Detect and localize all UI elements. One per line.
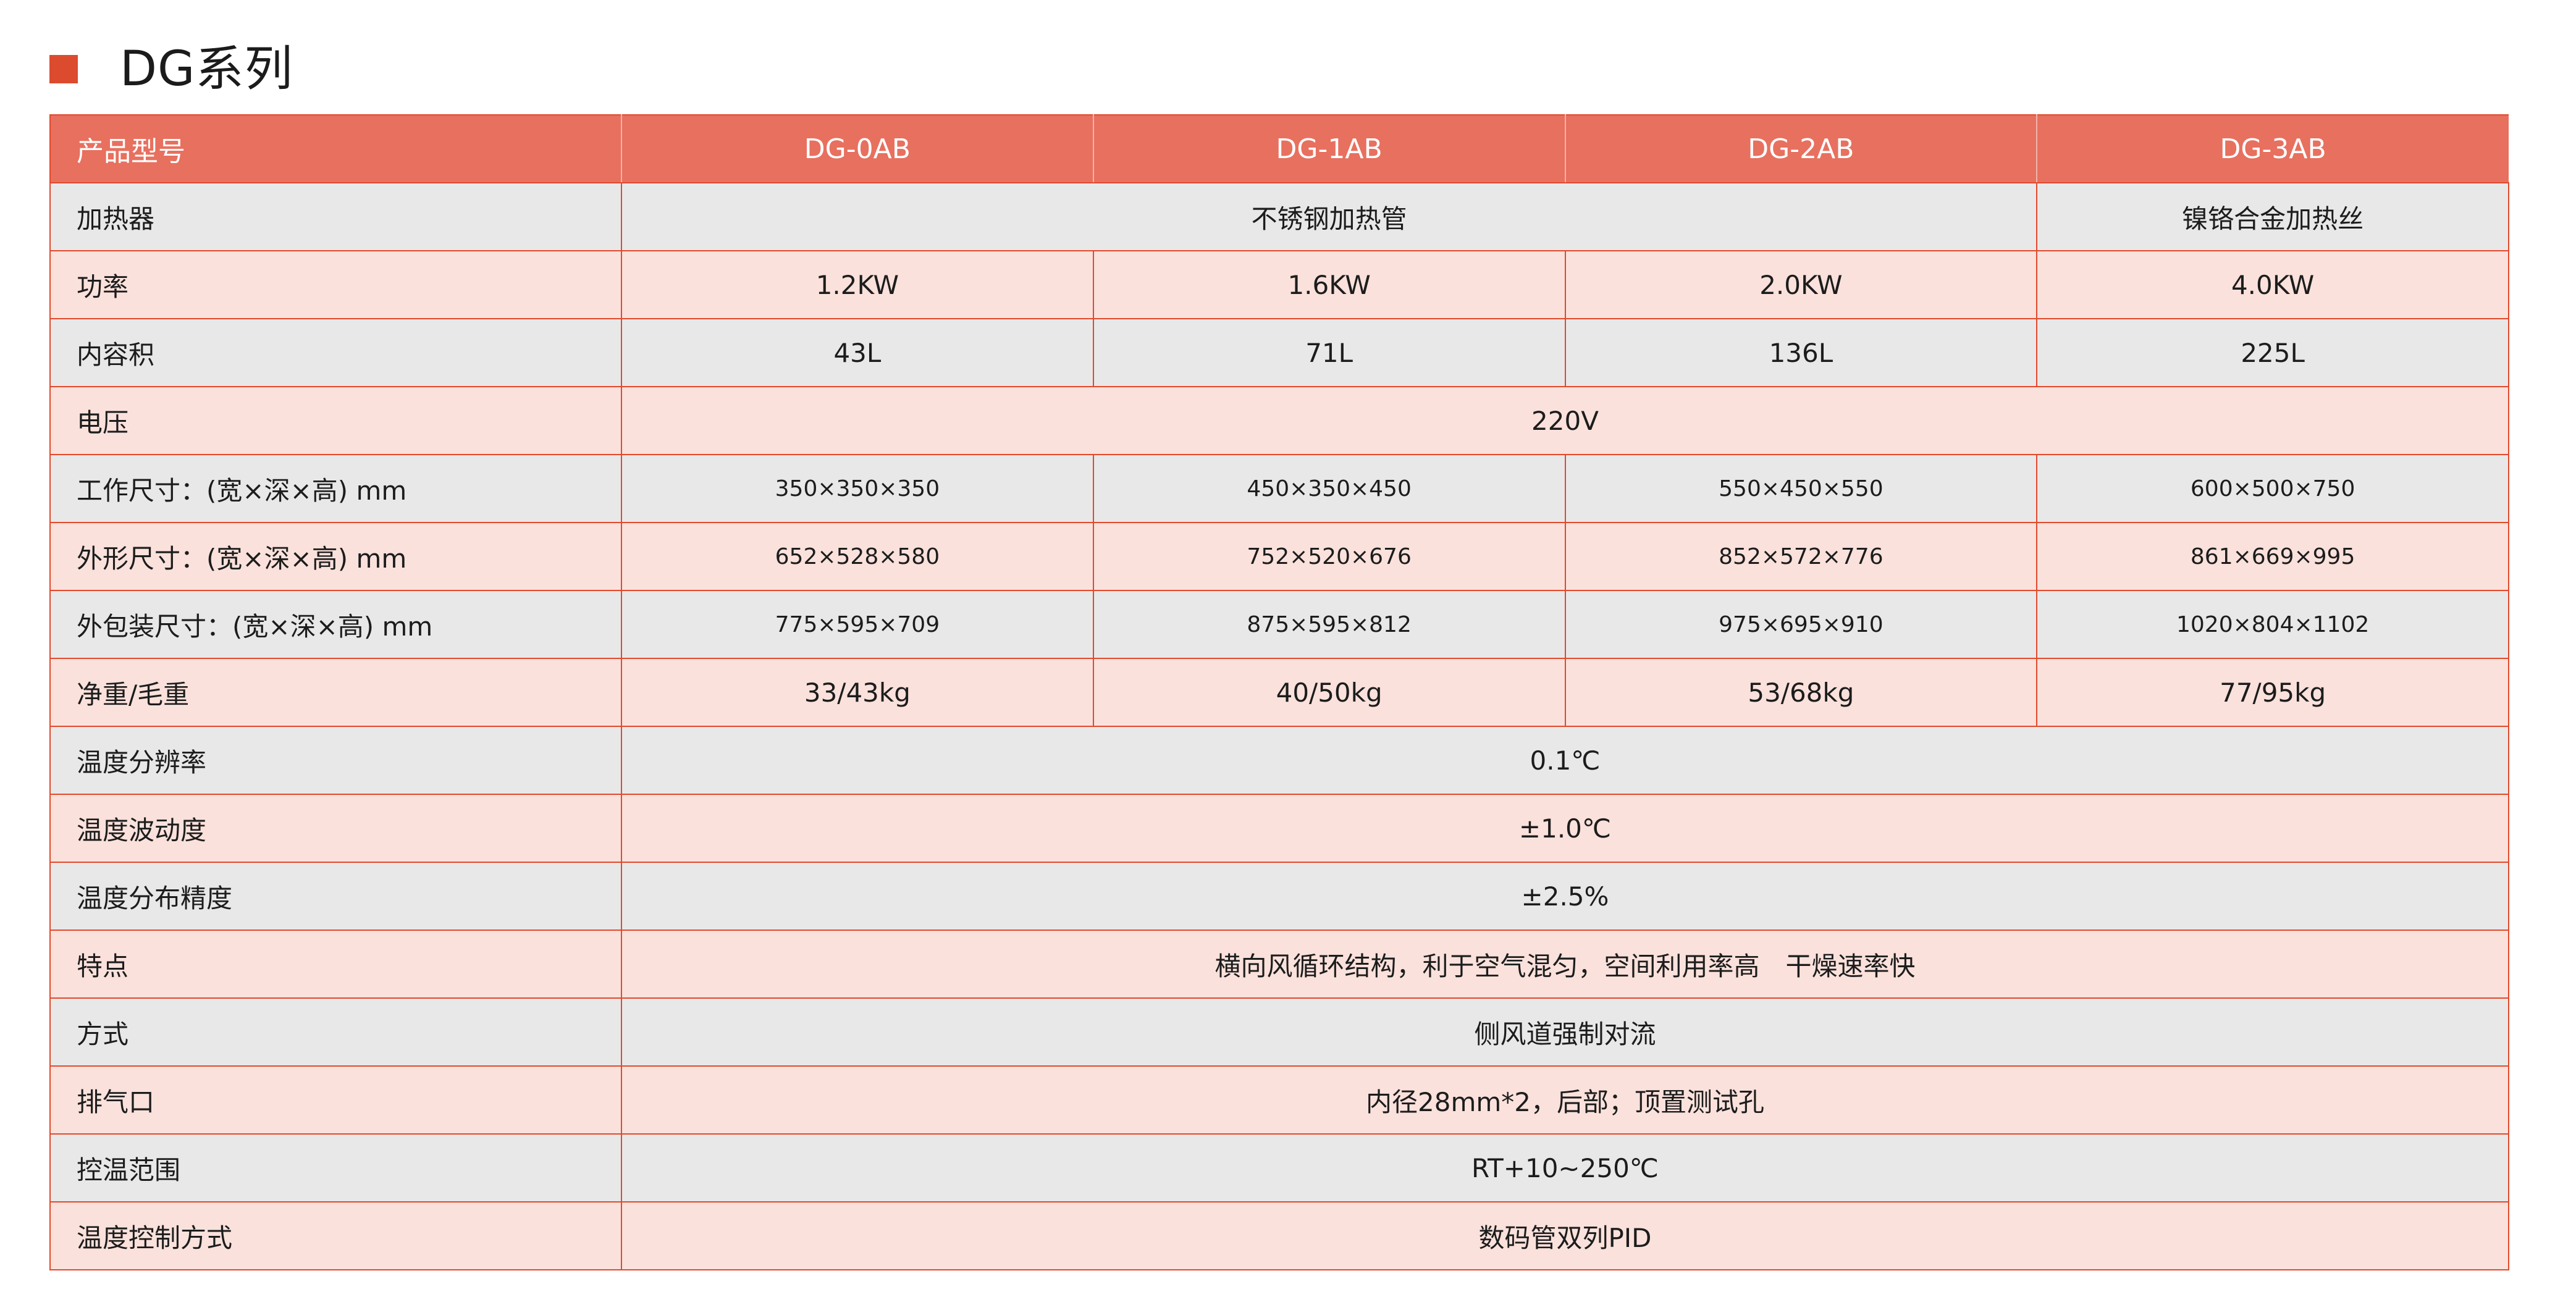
table-row: 电压220V bbox=[50, 387, 2509, 455]
row-value: 550×450×550 bbox=[1565, 455, 2037, 523]
table-row: 方式侧风道强制对流 bbox=[50, 998, 2509, 1066]
row-value: 1.6KW bbox=[1093, 251, 1565, 319]
table-row: 排气口内径28mm*2，后部；顶置测试孔 bbox=[50, 1066, 2509, 1134]
row-value: 镍铬合金加热丝 bbox=[2037, 183, 2509, 251]
row-label: 排气口 bbox=[50, 1066, 621, 1134]
row-label: 控温范围 bbox=[50, 1134, 621, 1202]
row-label: 加热器 bbox=[50, 183, 621, 251]
column-header-dg-1ab: DG-1AB bbox=[1093, 115, 1565, 183]
row-value: ±1.0℃ bbox=[621, 794, 2509, 862]
row-label: 电压 bbox=[50, 387, 621, 455]
column-header-dg-0ab: DG-0AB bbox=[621, 115, 1093, 183]
row-value: 53/68kg bbox=[1565, 658, 2037, 726]
table-row: 外形尺寸：(宽×深×高) mm652×528×580752×520×676852… bbox=[50, 523, 2509, 590]
page-title: DG系列 bbox=[49, 38, 293, 100]
row-value: 71L bbox=[1093, 319, 1565, 387]
table-row: 温度波动度±1.0℃ bbox=[50, 794, 2509, 862]
table-header: 产品型号 DG-0AB DG-1AB DG-2AB DG-3AB bbox=[50, 115, 2509, 183]
table-row: 特点横向风循环结构，利于空气混匀，空间利用率高 干燥速率快 bbox=[50, 930, 2509, 998]
table-row: 加热器不锈钢加热管镍铬合金加热丝 bbox=[50, 183, 2509, 251]
row-value: 1020×804×1102 bbox=[2037, 590, 2509, 658]
table-row: 温度分辨率0.1℃ bbox=[50, 726, 2509, 794]
row-value: 600×500×750 bbox=[2037, 455, 2509, 523]
row-value: 652×528×580 bbox=[621, 523, 1093, 590]
row-value: 225L bbox=[2037, 319, 2509, 387]
row-value: 内径28mm*2，后部；顶置测试孔 bbox=[621, 1066, 2509, 1134]
row-value: 975×695×910 bbox=[1565, 590, 2037, 658]
page-title-text: DG系列 bbox=[120, 45, 293, 93]
row-value: 40/50kg bbox=[1093, 658, 1565, 726]
row-label: 内容积 bbox=[50, 319, 621, 387]
row-value: 数码管双列PID bbox=[621, 1202, 2509, 1270]
row-value: 861×669×995 bbox=[2037, 523, 2509, 590]
row-value: 4.0KW bbox=[2037, 251, 2509, 319]
table-row: 功率1.2KW1.6KW2.0KW4.0KW bbox=[50, 251, 2509, 319]
row-value: RT+10~250℃ bbox=[621, 1134, 2509, 1202]
row-label: 特点 bbox=[50, 930, 621, 998]
column-header-dg-3ab: DG-3AB bbox=[2037, 115, 2509, 183]
row-value: 43L bbox=[621, 319, 1093, 387]
row-value: 横向风循环结构，利于空气混匀，空间利用率高 干燥速率快 bbox=[621, 930, 2509, 998]
row-value: 0.1℃ bbox=[621, 726, 2509, 794]
row-value: 350×350×350 bbox=[621, 455, 1093, 523]
table-body: 加热器不锈钢加热管镍铬合金加热丝功率1.2KW1.6KW2.0KW4.0KW内容… bbox=[50, 183, 2509, 1270]
row-label: 外包装尺寸：(宽×深×高) mm bbox=[50, 590, 621, 658]
table-header-row: 产品型号 DG-0AB DG-1AB DG-2AB DG-3AB bbox=[50, 115, 2509, 183]
row-value: 2.0KW bbox=[1565, 251, 2037, 319]
row-label: 功率 bbox=[50, 251, 621, 319]
column-header-product-model: 产品型号 bbox=[50, 115, 621, 183]
row-label: 温度波动度 bbox=[50, 794, 621, 862]
row-value: 不锈钢加热管 bbox=[621, 183, 2037, 251]
row-label: 外形尺寸：(宽×深×高) mm bbox=[50, 523, 621, 590]
table-row: 温度分布精度±2.5% bbox=[50, 862, 2509, 930]
table-row: 净重/毛重33/43kg40/50kg53/68kg77/95kg bbox=[50, 658, 2509, 726]
bullet-square-icon bbox=[49, 55, 78, 83]
row-value: 752×520×676 bbox=[1093, 523, 1565, 590]
table-row: 内容积43L71L136L225L bbox=[50, 319, 2509, 387]
table-row: 工作尺寸：(宽×深×高) mm350×350×350450×350×450550… bbox=[50, 455, 2509, 523]
row-value: ±2.5% bbox=[621, 862, 2509, 930]
row-value: 450×350×450 bbox=[1093, 455, 1565, 523]
row-label: 温度控制方式 bbox=[50, 1202, 621, 1270]
row-value: 1.2KW bbox=[621, 251, 1093, 319]
slide-page: DG系列 产品型号 DG-0AB DG-1AB DG-2AB DG-3AB 加热… bbox=[0, 0, 2576, 1297]
row-value: 77/95kg bbox=[2037, 658, 2509, 726]
specification-table: 产品型号 DG-0AB DG-1AB DG-2AB DG-3AB 加热器不锈钢加… bbox=[49, 114, 2509, 1270]
row-value: 侧风道强制对流 bbox=[621, 998, 2509, 1066]
row-value: 875×595×812 bbox=[1093, 590, 1565, 658]
table-row: 控温范围RT+10~250℃ bbox=[50, 1134, 2509, 1202]
column-header-dg-2ab: DG-2AB bbox=[1565, 115, 2037, 183]
row-label: 温度分布精度 bbox=[50, 862, 621, 930]
table-row: 外包装尺寸：(宽×深×高) mm775×595×709875×595×81297… bbox=[50, 590, 2509, 658]
row-label: 方式 bbox=[50, 998, 621, 1066]
row-value: 33/43kg bbox=[621, 658, 1093, 726]
row-label: 工作尺寸：(宽×深×高) mm bbox=[50, 455, 621, 523]
row-value: 852×572×776 bbox=[1565, 523, 2037, 590]
row-value: 775×595×709 bbox=[621, 590, 1093, 658]
table-row: 温度控制方式数码管双列PID bbox=[50, 1202, 2509, 1270]
row-label: 温度分辨率 bbox=[50, 726, 621, 794]
row-value: 220V bbox=[621, 387, 2509, 455]
row-value: 136L bbox=[1565, 319, 2037, 387]
row-label: 净重/毛重 bbox=[50, 658, 621, 726]
